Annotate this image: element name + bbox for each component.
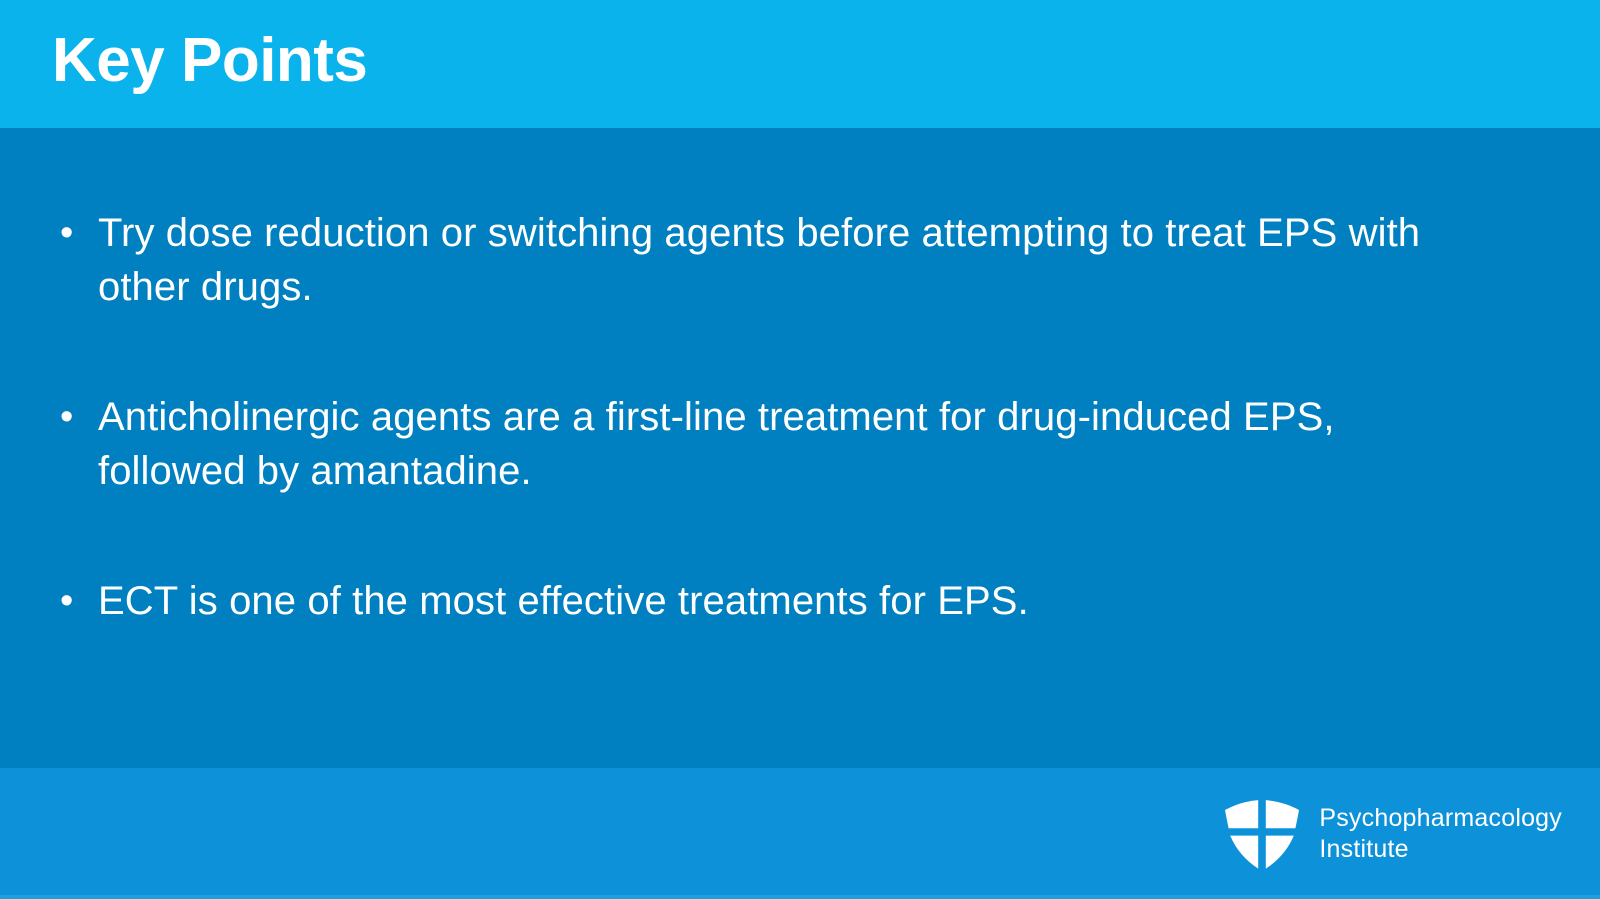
page-title: Key Points (52, 30, 367, 98)
list-item: • ECT is one of the most effective treat… (52, 574, 1480, 628)
bullet-dot-icon: • (52, 574, 98, 628)
brand-logo: Psychopharmacology Institute (1223, 798, 1562, 870)
bullet-text: Try dose reduction or switching agents b… (98, 206, 1448, 314)
slide-content-area: • Try dose reduction or switching agents… (0, 128, 1600, 768)
slide-header-band: Key Points (0, 0, 1600, 128)
presentation-slide: Key Points • Try dose reduction or switc… (0, 0, 1600, 899)
bullet-text: ECT is one of the most effective treatme… (98, 574, 1448, 628)
bullet-dot-icon: • (52, 390, 98, 444)
bullet-text: Anticholinergic agents are a first-line … (98, 390, 1448, 498)
slide-footer-band: Psychopharmacology Institute (0, 768, 1600, 899)
bullet-dot-icon: • (52, 206, 98, 260)
brand-name-line-2: Institute (1319, 834, 1562, 865)
footer-bottom-edge (0, 895, 1600, 899)
key-points-list: • Try dose reduction or switching agents… (52, 206, 1480, 628)
list-item: • Try dose reduction or switching agents… (52, 206, 1480, 314)
shield-logo-icon (1223, 798, 1301, 870)
list-item: • Anticholinergic agents are a first-lin… (52, 390, 1480, 498)
brand-name-line-1: Psychopharmacology (1319, 803, 1562, 834)
brand-wordmark: Psychopharmacology Institute (1319, 803, 1562, 864)
